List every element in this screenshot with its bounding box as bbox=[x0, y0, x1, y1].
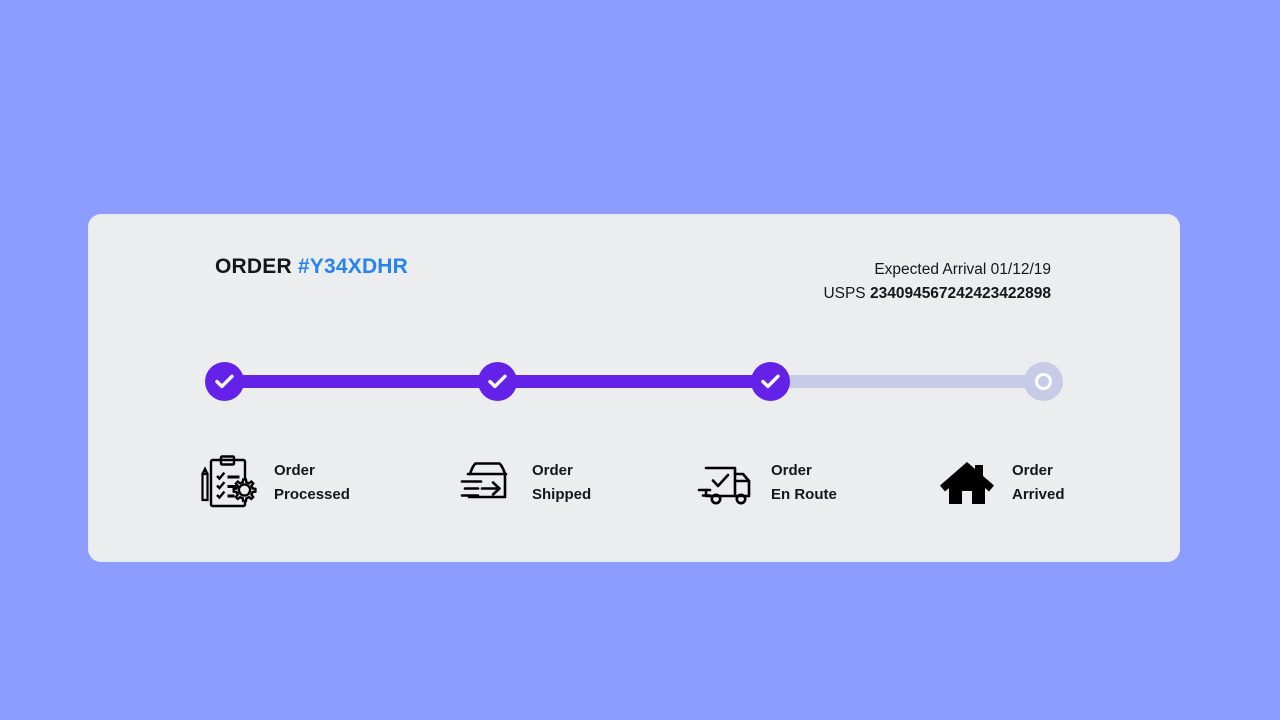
tracking-line: USPS 234094567242423422898 bbox=[823, 282, 1051, 306]
progress-node-order-en-route[interactable] bbox=[751, 362, 790, 401]
shipping-meta: Expected Arrival 01/12/19 USPS 234094567… bbox=[823, 258, 1051, 306]
ring-icon bbox=[1035, 373, 1052, 390]
order-label: ORDER bbox=[215, 255, 292, 278]
check-icon bbox=[215, 374, 234, 389]
card-header: ORDER #Y34XDHR Expected Arrival 01/12/19… bbox=[88, 214, 1180, 324]
delivery-truck-check-icon bbox=[693, 452, 759, 514]
legend-item-order-processed: Order Processed bbox=[196, 452, 350, 514]
check-icon bbox=[761, 374, 780, 389]
expected-arrival-date: 01/12/19 bbox=[991, 261, 1051, 278]
legend-label-order-en-route: Order En Route bbox=[771, 459, 837, 507]
page-title: ORDER #Y34XDHR bbox=[215, 255, 408, 279]
legend-item-order-shipped: Order Shipped bbox=[454, 452, 591, 514]
legend-item-order-arrived: Order Arrived bbox=[934, 452, 1065, 514]
progress-node-order-shipped[interactable] bbox=[478, 362, 517, 401]
progress-steps bbox=[205, 350, 1063, 410]
order-tracking-card: ORDER #Y34XDHR Expected Arrival 01/12/19… bbox=[88, 214, 1180, 562]
order-id: #Y34XDHR bbox=[298, 255, 408, 278]
legend-item-order-en-route: Order En Route bbox=[693, 452, 837, 514]
progress-node-order-processed[interactable] bbox=[205, 362, 244, 401]
order-progress-bar bbox=[205, 350, 1063, 410]
house-icon bbox=[934, 452, 1000, 514]
order-steps-legend: Order Processed bbox=[196, 452, 1126, 532]
legend-label-order-processed: Order Processed bbox=[274, 459, 350, 507]
clipboard-gear-icon bbox=[196, 452, 262, 514]
expected-arrival-label: Expected Arrival bbox=[874, 261, 986, 278]
tracking-number: 234094567242423422898 bbox=[870, 285, 1051, 302]
expected-arrival-line: Expected Arrival 01/12/19 bbox=[823, 258, 1051, 282]
shipping-box-arrow-icon bbox=[454, 452, 520, 514]
progress-node-order-arrived[interactable] bbox=[1024, 362, 1063, 401]
legend-label-order-shipped: Order Shipped bbox=[532, 459, 591, 507]
legend-label-order-arrived: Order Arrived bbox=[1012, 459, 1065, 507]
carrier-label: USPS bbox=[823, 285, 865, 302]
check-icon bbox=[488, 374, 507, 389]
